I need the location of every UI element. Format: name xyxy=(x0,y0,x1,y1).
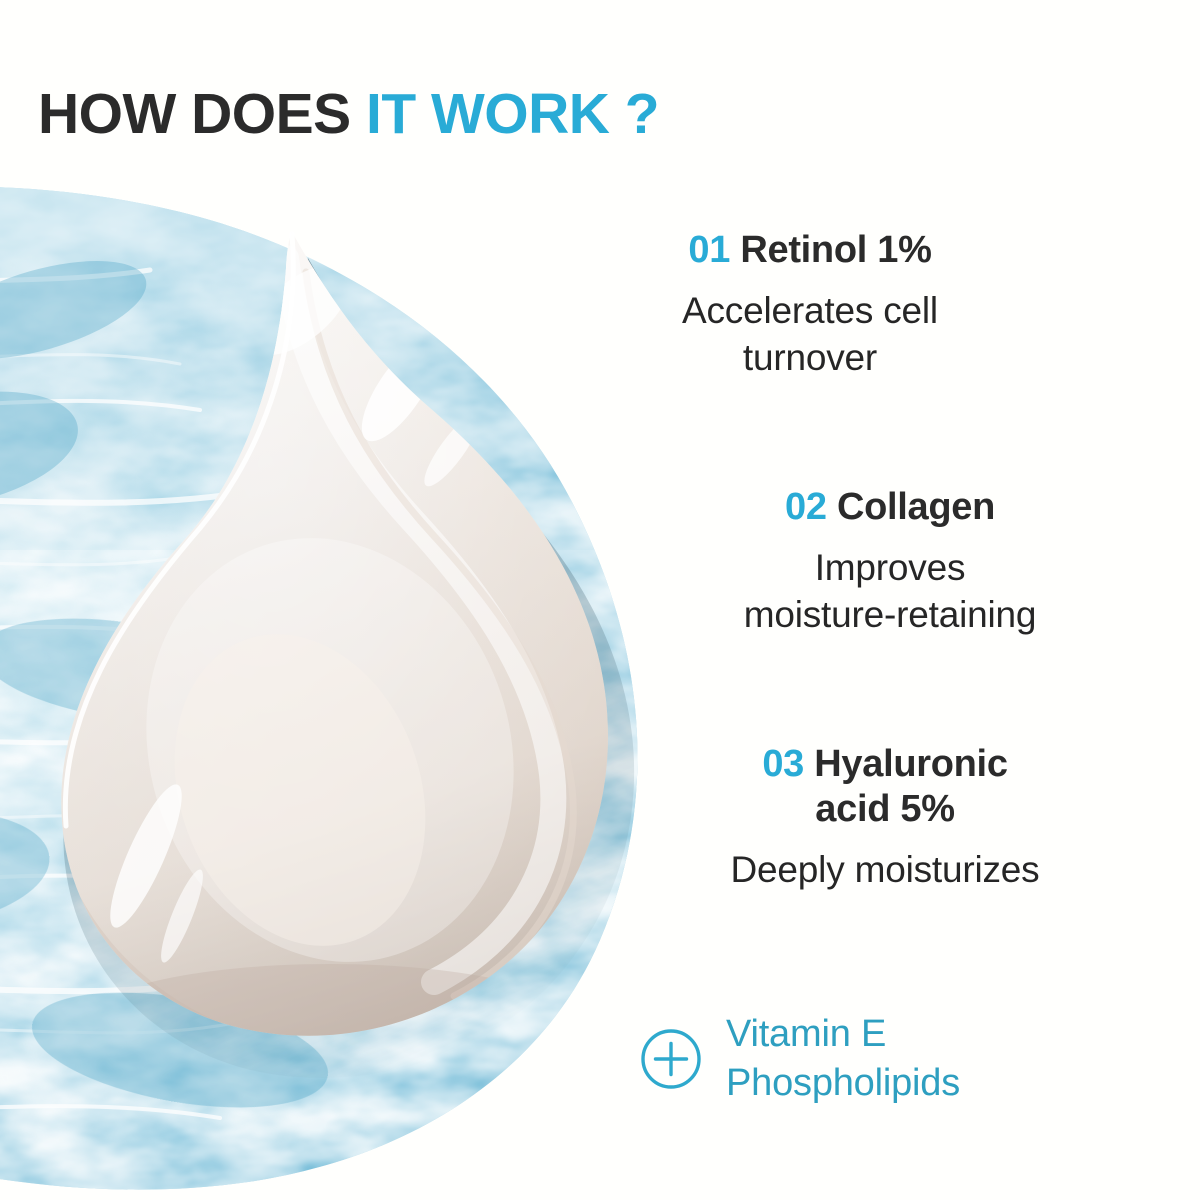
ingredient-name-02: Collagen xyxy=(837,486,995,528)
page-title-dark: HOW DOES xyxy=(38,82,366,146)
ingredient-name-03: Hyaluronic acid 5% xyxy=(814,743,1007,830)
ingredient-item-03: 03 Hyaluronic acid 5% Deeply moisturizes xyxy=(670,742,1100,893)
page-title-accent: IT WORK ? xyxy=(366,82,659,146)
ingredient-number-03: 03 xyxy=(762,743,804,785)
ingredient-title-01: 01 Retinol 1% xyxy=(600,228,1020,273)
ingredient-title-03: 03 Hyaluronic acid 5% xyxy=(670,742,1100,832)
ingredient-name-01: Retinol 1% xyxy=(740,229,931,271)
ingredient-title-02: 02 Collagen xyxy=(660,485,1120,530)
bonus-ingredient-label: Vitamin E Phospholipids xyxy=(726,1010,960,1109)
ingredient-description-02: Improves moisture-retaining xyxy=(660,544,1120,639)
page-title: HOW DOES IT WORK ? xyxy=(38,86,659,143)
ingredient-item-01: 01 Retinol 1% Accelerates cell turnover xyxy=(600,228,1020,382)
ingredient-description-01: Accelerates cell turnover xyxy=(600,287,1020,382)
ingredient-number-02: 02 xyxy=(785,486,827,528)
ingredient-item-02: 02 Collagen Improves moisture-retaining xyxy=(660,485,1120,639)
infographic-canvas: HOW DOES IT WORK ? xyxy=(0,0,1200,1200)
plus-circle-icon xyxy=(640,1028,702,1090)
bonus-ingredient-row: Vitamin E Phospholipids xyxy=(640,1010,960,1109)
ingredient-number-01: 01 xyxy=(688,229,730,271)
ingredient-description-03: Deeply moisturizes xyxy=(670,846,1100,893)
product-texture-image xyxy=(0,150,700,1200)
